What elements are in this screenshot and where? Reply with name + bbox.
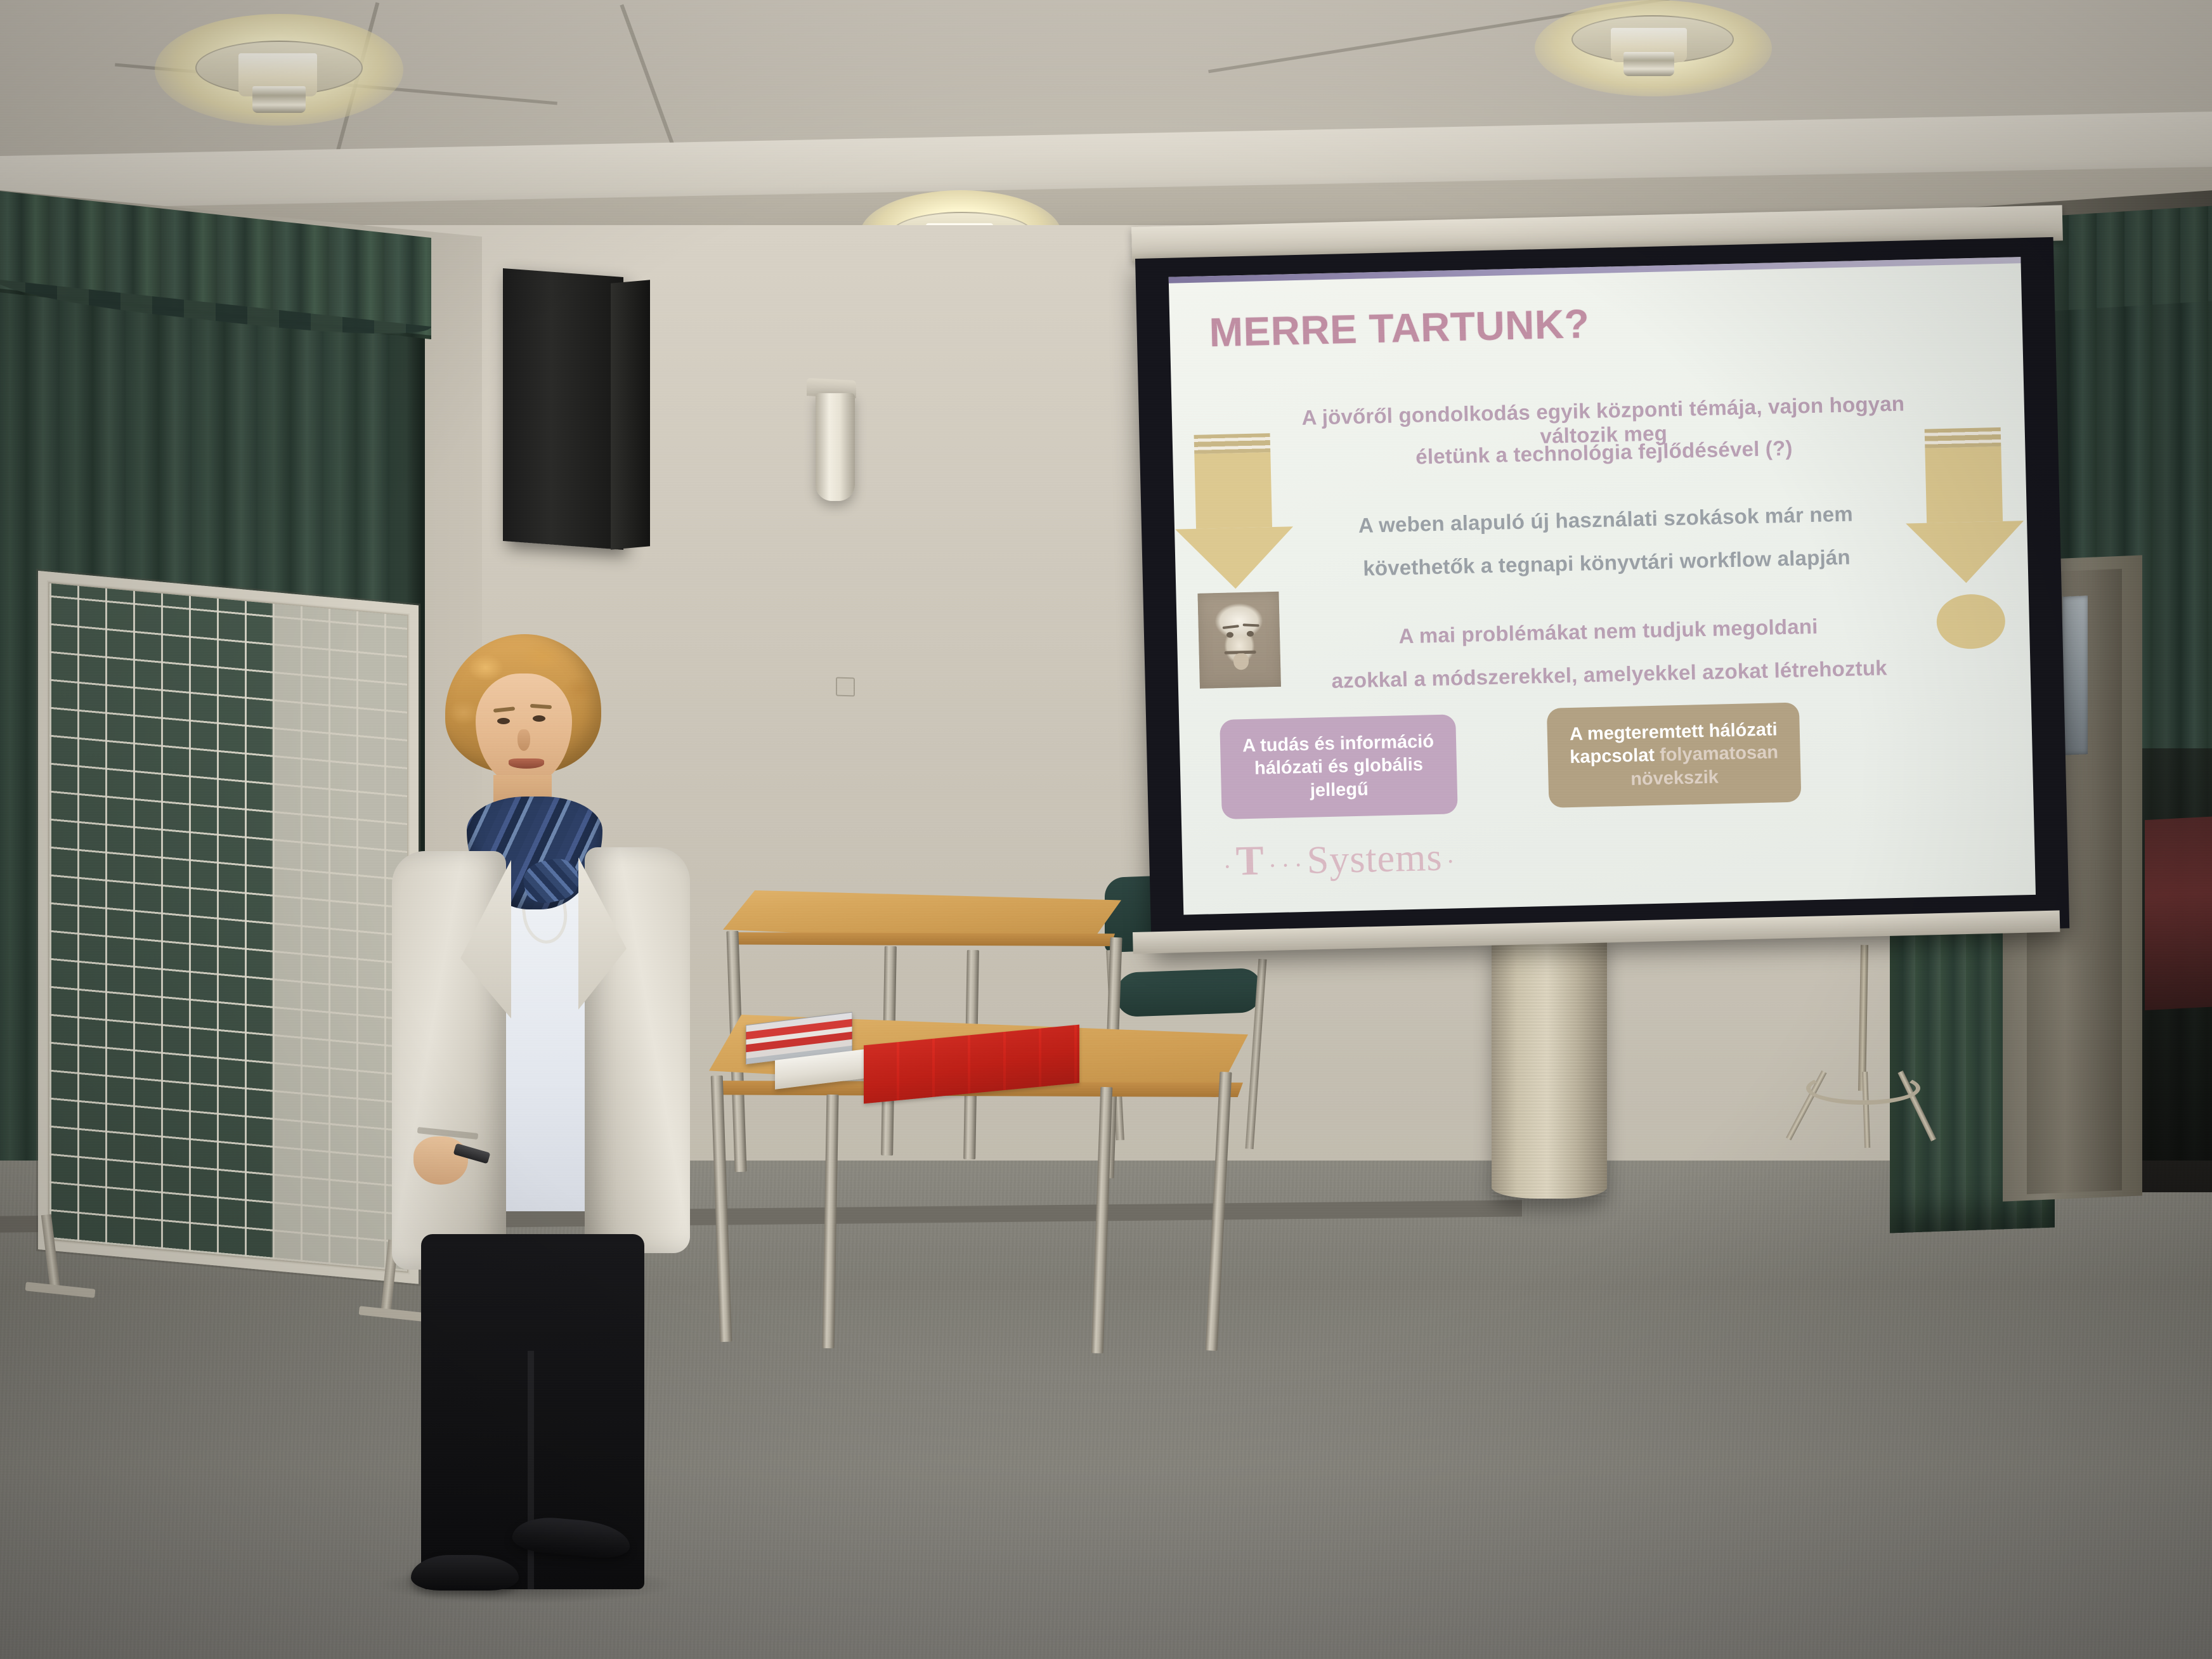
arrow-shaft (1925, 446, 2003, 523)
slide-chip-left: A tudás és információ hálózati és globál… (1220, 714, 1458, 819)
green-chair-seat[interactable] (1116, 968, 1262, 1017)
logo-dot: · (1223, 854, 1232, 880)
slide-line-4: követhetők a tegnapi könyvtári workflow … (1270, 543, 1943, 583)
arrow-stripes (1925, 427, 2001, 448)
slide-title: MERRE TARTUNK? (1209, 300, 1590, 356)
slide-chip-right: A megteremtett hálózati kapcsolat folyam… (1547, 703, 1802, 808)
presenter-nose (517, 729, 530, 751)
logo-word: Systems (1306, 835, 1443, 883)
portrait-tongue (1233, 653, 1249, 670)
presenter-trouser-seam (528, 1351, 534, 1591)
down-arrow-icon (1925, 427, 2005, 584)
logo-dot: · (1268, 853, 1278, 878)
logo-dot: · (1446, 849, 1455, 874)
power-socket[interactable] (836, 677, 855, 696)
presentation-slide: MERRE TARTUNK? A jövőről gondolkodás egy… (1169, 257, 2036, 914)
concrete-pillar (1492, 932, 1607, 1199)
t-systems-logo: ·T···Systems· (1223, 832, 1456, 886)
logo-dot: · (1294, 852, 1303, 878)
ceiling-light-lens (252, 86, 306, 113)
slide-line-6: azokkal a módszerekkel, amelyekkel azoka… (1273, 654, 1946, 694)
presenter (342, 634, 685, 1585)
arrow-stripes (1194, 433, 1271, 454)
red-chair[interactable] (2145, 816, 2212, 1010)
presenter-eye (497, 718, 510, 724)
wall-sconce (816, 393, 855, 501)
slide-line-5: A mai problémákat nem tudjuk megoldani (1272, 611, 1945, 651)
arrow-head (1175, 526, 1294, 590)
einstein-portrait-icon (1197, 592, 1280, 689)
ellipse-shape (1936, 594, 2006, 650)
portrait-eye (1226, 632, 1233, 638)
board-leg (41, 1214, 61, 1291)
presenter-eye (533, 715, 545, 722)
presenter-mouth (509, 758, 544, 769)
portrait-brow (1223, 625, 1239, 629)
slide-line-3: A weben alapuló új használati szokások m… (1270, 500, 1942, 540)
portrait-eye (1247, 631, 1254, 637)
wall-speaker (503, 268, 623, 550)
table-edge (727, 932, 1115, 946)
portrait-brow (1243, 623, 1259, 627)
down-arrow-icon (1194, 433, 1274, 590)
conference-room-photo: MERRE TARTUNK? A jövőről gondolkodás egy… (0, 0, 2212, 1659)
projection-screen: MERRE TARTUNK? A jövőről gondolkodás egy… (1135, 237, 2069, 950)
logo-dot: · (1281, 853, 1291, 878)
arrow-head (1906, 521, 2025, 584)
arrow-shaft (1194, 452, 1272, 529)
ceiling-light-lens (1623, 52, 1674, 76)
logo-t: T (1235, 836, 1265, 885)
tripod-ring (1806, 1072, 1920, 1105)
presenter-shoe (411, 1555, 519, 1591)
wall-speaker-side (611, 280, 650, 549)
door-glass-pane (2062, 595, 2088, 755)
